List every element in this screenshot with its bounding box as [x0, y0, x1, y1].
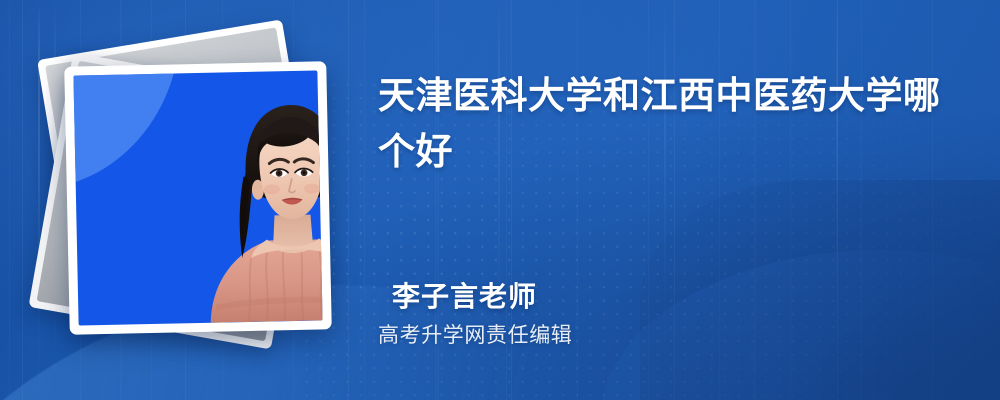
photo-card-stack	[45, 38, 345, 348]
author-role: 高考升学网责任编辑	[378, 319, 572, 349]
front-photo-card	[64, 61, 332, 334]
banner-image: 天津医科大学和江西中医药大学哪个好 李子言老师 高考升学网责任编辑	[0, 0, 1000, 400]
author-name: 李子言老师	[392, 275, 537, 315]
photo-corner-highlight	[73, 70, 183, 189]
portrait-photo	[73, 70, 322, 325]
portrait-illustration	[192, 95, 323, 323]
page-title: 天津医科大学和江西中医药大学哪个好	[378, 68, 958, 180]
text-column: 天津医科大学和江西中医药大学哪个好 李子言老师 高考升学网责任编辑	[378, 0, 978, 400]
